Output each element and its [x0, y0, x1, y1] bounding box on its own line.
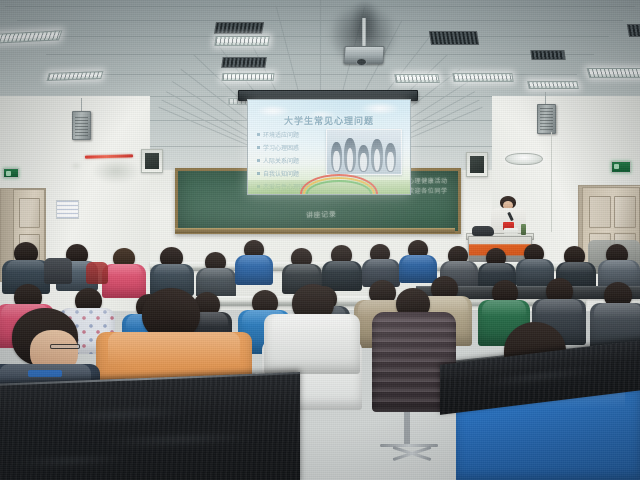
ceiling-light: [527, 81, 579, 89]
chalk-tray: [175, 228, 455, 233]
electrical-panel-left[interactable]: [141, 149, 163, 173]
penguin-figure: [358, 145, 369, 172]
slide-title: 大学生常见心理问题: [248, 114, 410, 127]
projected-slide: 大学生常见心理问题 环境适应问题 学习心理困惑 人际关系问题 自我认知问题: [248, 100, 410, 194]
air-vent: [214, 22, 264, 34]
wall-speaker-right: [537, 104, 556, 134]
exit-sign-right: [611, 161, 631, 173]
lecture-hall-photo: 讲座记录 心理健康活动 欢迎各位同学 大学生常见心理问题 环境适应问题 学习心理…: [0, 0, 640, 480]
ceiling-light: [222, 73, 275, 81]
exit-sign-left: [3, 168, 19, 178]
penguin-figure: [344, 138, 356, 172]
air-vent: [627, 24, 640, 37]
student-torso-white: [264, 314, 360, 374]
posted-notice-left: [56, 200, 79, 219]
foreground-desk: [0, 372, 300, 480]
penguin-figure: [331, 142, 342, 172]
wood-grain: [10, 453, 130, 470]
slide-penguin-image: [326, 129, 402, 175]
wall-smudge: [70, 162, 82, 170]
penguin-figure: [385, 143, 396, 172]
slide-bullet-label: 人际关系问题: [263, 156, 299, 165]
slide-bullet: 自我认知问题: [257, 169, 311, 178]
wood-grain: [50, 404, 190, 425]
chalkboard-note-right-2: 欢迎各位同学: [408, 189, 448, 197]
ceiling-light: [214, 36, 269, 46]
wall-speaker-left: [72, 111, 91, 140]
podium-papers: [504, 228, 518, 234]
podium-bag: [472, 226, 494, 236]
chair-stem: [404, 406, 410, 446]
wall-conduit-right: [551, 132, 552, 232]
door-panel: [614, 196, 636, 228]
penguin-figure: [371, 139, 383, 172]
bullet-dot-icon: [257, 159, 260, 162]
eyeglasses-icon: [50, 344, 80, 349]
bullet-dot-icon: [257, 133, 260, 136]
projector-mount-pole: [362, 18, 366, 48]
student-torso-blue: [235, 255, 273, 285]
backpack: [86, 262, 108, 284]
chalkboard-note-right-1: 心理健康活动: [408, 179, 448, 187]
bullet-dot-icon: [257, 172, 260, 175]
student-torso-blue: [399, 255, 437, 283]
projector-lens-icon: [356, 58, 367, 66]
wood-grain: [100, 430, 260, 450]
bullet-dot-icon: [257, 146, 260, 149]
backpack: [44, 258, 72, 284]
door-panel: [19, 198, 40, 228]
wall-smudge: [92, 158, 140, 184]
podium-bottle: [521, 224, 526, 235]
chalkboard-note-center: 讲座记录: [306, 210, 337, 220]
ceiling-light: [452, 73, 513, 82]
door-panel: [589, 196, 611, 228]
air-vent: [530, 50, 565, 60]
ceiling-light: [587, 68, 640, 78]
air-vent: [429, 31, 479, 45]
electrical-panel-right[interactable]: [466, 152, 488, 177]
slide-bullet: 环境适应问题: [257, 130, 311, 139]
projection-screen: 大学生常见心理问题 环境适应问题 学习心理困惑 人际关系问题 自我认知问题: [247, 99, 411, 195]
wall-light-right: [505, 153, 543, 165]
ceiling-light: [394, 74, 440, 83]
slide-bullet: 学习心理困惑: [257, 143, 311, 152]
air-vent: [221, 57, 267, 68]
slide-bullet-label: 学习心理困惑: [263, 143, 299, 152]
speaker-hanging-wire: [81, 98, 82, 112]
slide-bullet: 人际关系问题: [257, 156, 311, 165]
slide-bullet-label: 自我认知问题: [263, 169, 299, 178]
student-torso-pink: [102, 264, 146, 298]
lanyard-strap: [28, 370, 62, 377]
slide-bullet-label: 环境适应问题: [263, 130, 299, 139]
wood-grain: [480, 363, 600, 390]
